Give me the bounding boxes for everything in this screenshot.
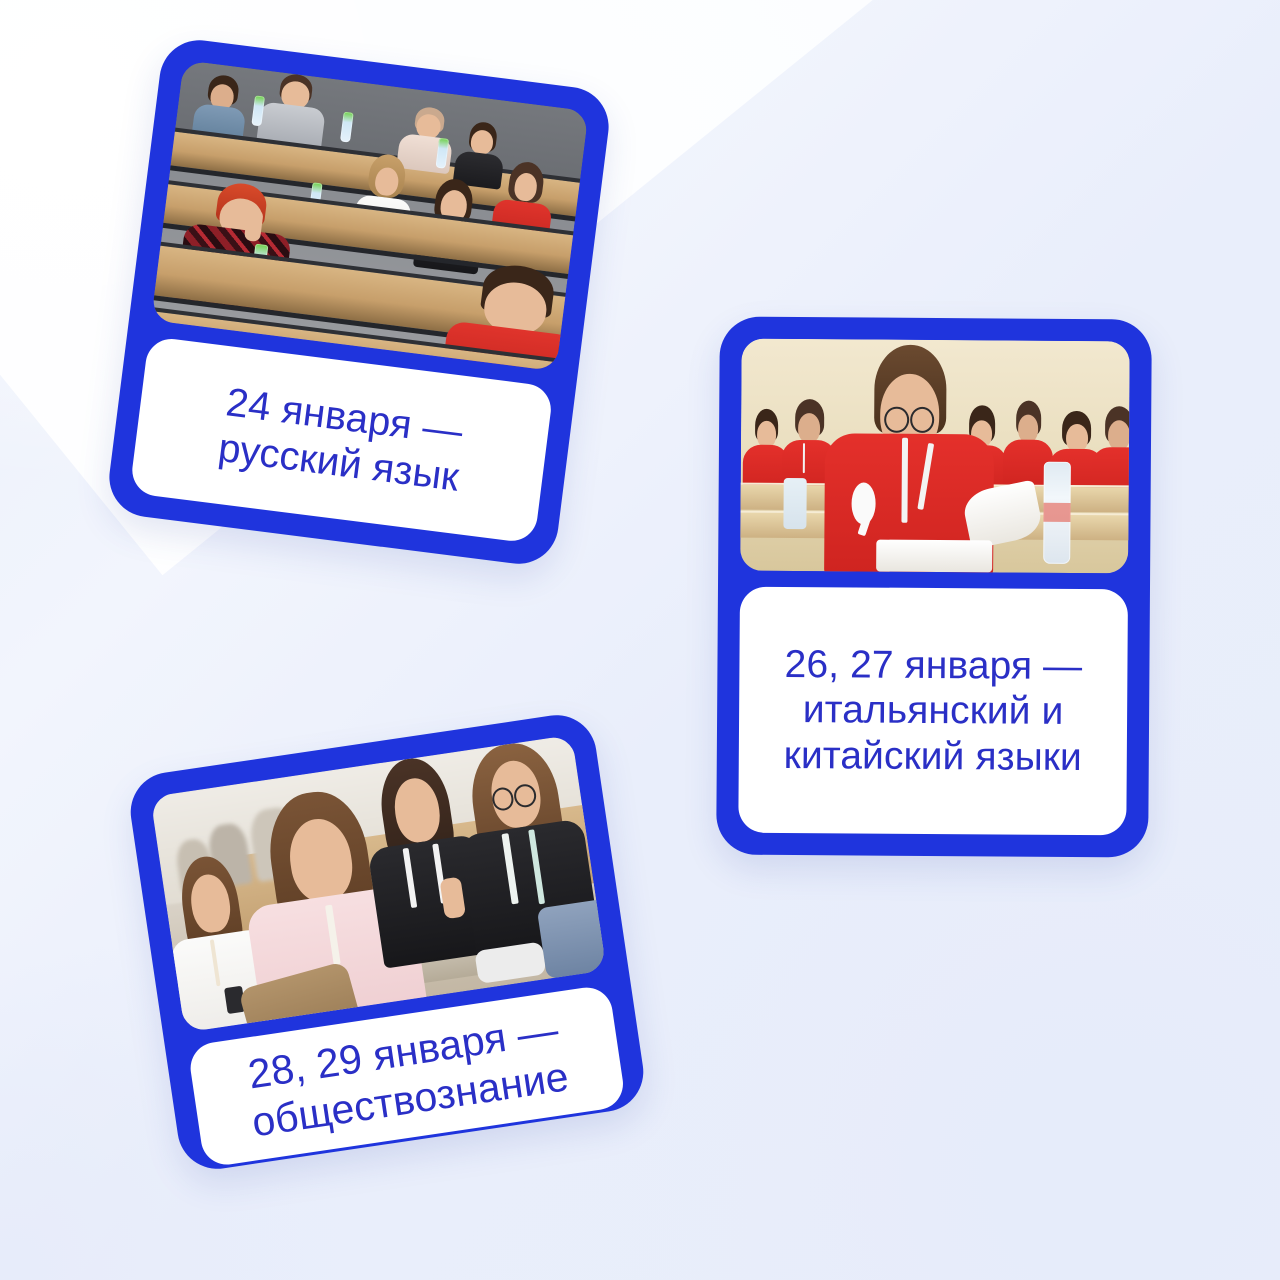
- poster-stage: 24 января — русский язык: [0, 0, 1280, 1280]
- card-russian[interactable]: 24 января — русский язык: [105, 36, 614, 569]
- exam-room-photo: [740, 339, 1130, 574]
- lecture-hall-photo: [151, 60, 589, 371]
- card-languages[interactable]: 26, 27 января — итальянский и китайский …: [716, 316, 1152, 857]
- card-russian-label: 24 января — русский язык: [129, 336, 554, 544]
- card-social[interactable]: 28, 29 января — обществознание: [125, 710, 648, 1174]
- students-group-photo: [150, 735, 606, 1033]
- card-languages-label: 26, 27 января — итальянский и китайский …: [738, 587, 1128, 836]
